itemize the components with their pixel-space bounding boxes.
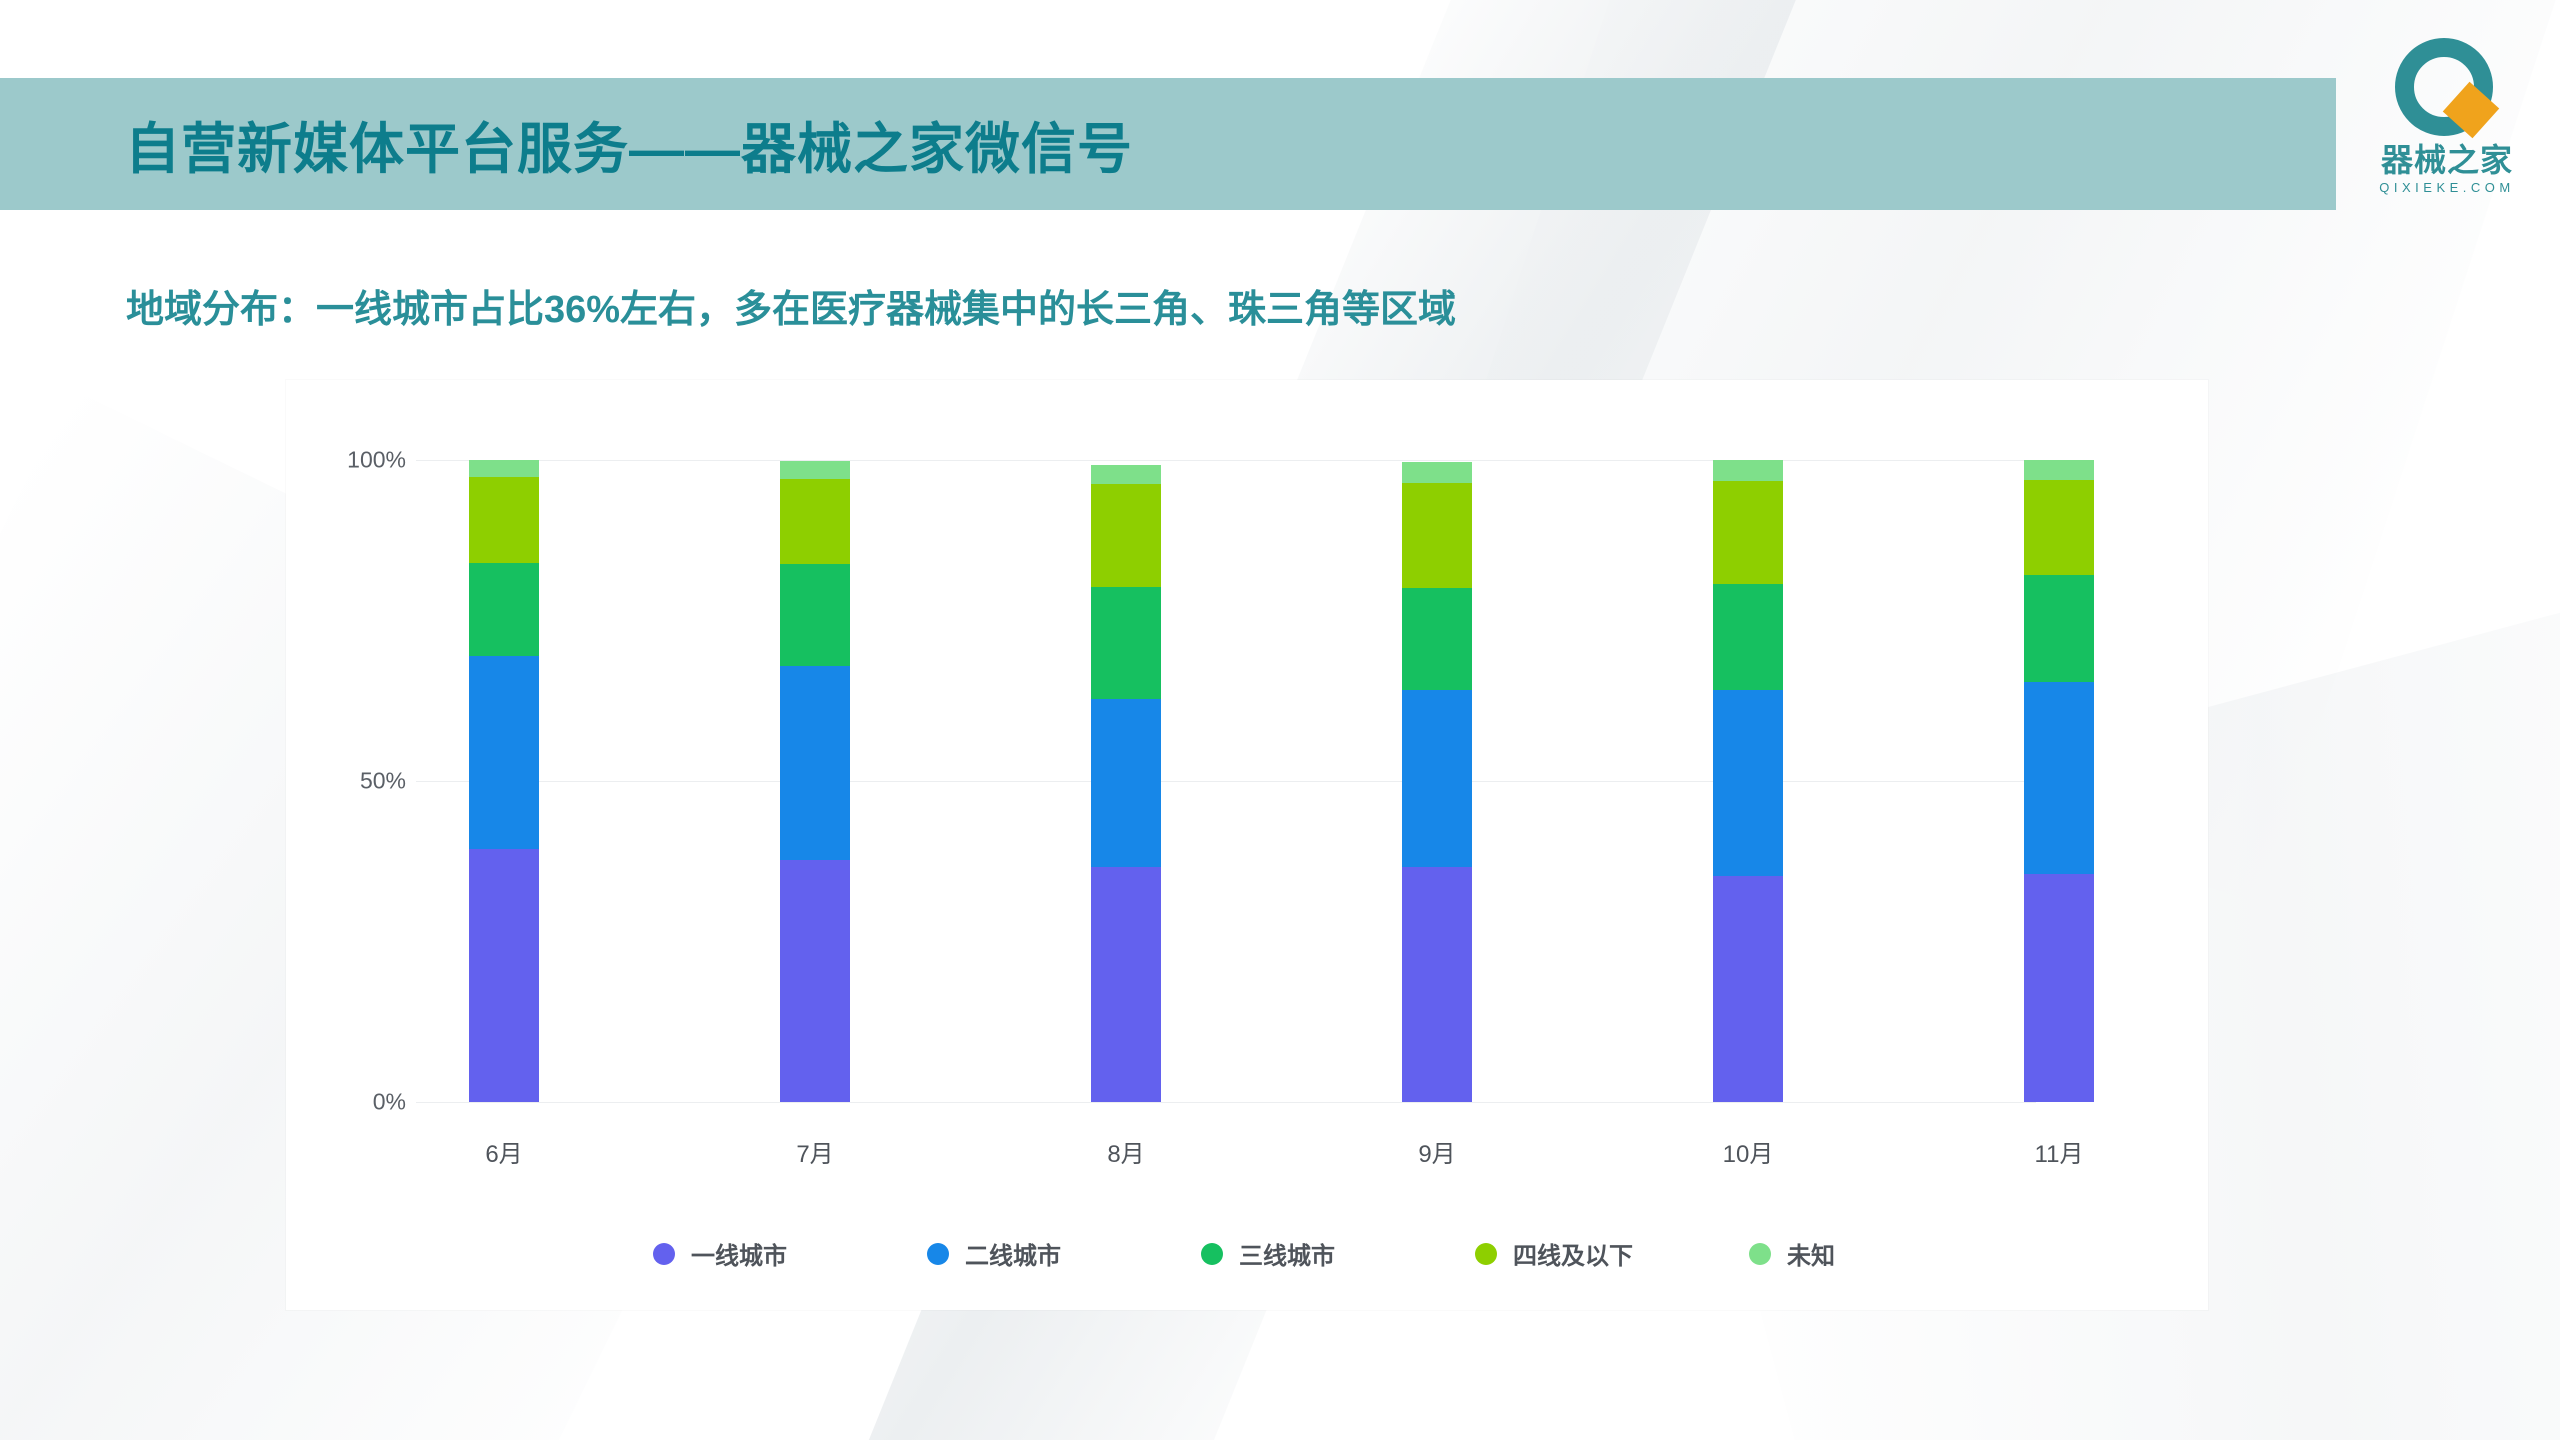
chart-bar-segment[interactable] — [1713, 481, 1783, 584]
brand-logo: 器械之家 QIXIEKE.COM — [2352, 38, 2542, 213]
x-axis-tick-label: 6月 — [424, 1134, 584, 1169]
chart-plot-area: 0%50%100%6月7月8月9月10月11月 — [286, 380, 2208, 1160]
chart-bar-segment[interactable] — [1091, 465, 1161, 485]
logo-name-en: QIXIEKE.COM — [2379, 180, 2514, 195]
legend-color-dot-icon — [653, 1243, 675, 1265]
chart-bar-segment[interactable] — [1402, 867, 1472, 1102]
y-axis-tick-label: 100% — [296, 447, 406, 474]
logo-q-mark-icon — [2393, 38, 2501, 142]
chart-bar-segment[interactable] — [1091, 587, 1161, 699]
chart-bar-segment[interactable] — [1402, 462, 1472, 483]
legend-item[interactable]: 二线城市 — [927, 1236, 1061, 1271]
legend-color-dot-icon — [1475, 1243, 1497, 1265]
chart-bar-segment[interactable] — [1402, 588, 1472, 691]
x-axis-tick-label: 9月 — [1357, 1134, 1517, 1169]
chart-gridline — [416, 781, 2036, 782]
slide-canvas: 自营新媒体平台服务——器械之家微信号 器械之家 QIXIEKE.COM 地域分布… — [0, 0, 2560, 1440]
x-axis-tick-label: 8月 — [1046, 1134, 1206, 1169]
chart-bar-segment[interactable] — [469, 477, 539, 563]
chart-bar[interactable] — [1713, 460, 1783, 1102]
chart-bar-segment[interactable] — [1091, 484, 1161, 587]
chart-bar-segment[interactable] — [2024, 874, 2094, 1102]
x-axis-tick-label: 11月 — [1979, 1134, 2139, 1169]
chart-bar-segment[interactable] — [780, 860, 850, 1102]
chart-bar-segment[interactable] — [1402, 483, 1472, 588]
legend-label: 一线城市 — [691, 1236, 787, 1271]
chart-bar[interactable] — [780, 460, 850, 1102]
chart-bar-segment[interactable] — [1091, 867, 1161, 1102]
chart-legend: 一线城市二线城市三线城市四线及以下未知 — [286, 1228, 2208, 1288]
chart-bar-segment[interactable] — [469, 460, 539, 477]
legend-color-dot-icon — [1201, 1243, 1223, 1265]
logo-name-cn: 器械之家 — [2381, 144, 2513, 178]
chart-bar-segment[interactable] — [2024, 480, 2094, 575]
legend-color-dot-icon — [927, 1243, 949, 1265]
chart-bar-segment[interactable] — [469, 849, 539, 1102]
legend-label: 未知 — [1787, 1236, 1835, 1271]
chart-gridline — [416, 460, 2036, 461]
chart-bar-segment[interactable] — [1713, 690, 1783, 876]
chart-card: 0%50%100%6月7月8月9月10月11月 一线城市二线城市三线城市四线及以… — [286, 380, 2208, 1310]
legend-item[interactable]: 三线城市 — [1201, 1236, 1335, 1271]
y-axis-tick-label: 0% — [296, 1089, 406, 1116]
legend-color-dot-icon — [1749, 1243, 1771, 1265]
chart-bar-segment[interactable] — [2024, 682, 2094, 874]
chart-bar[interactable] — [2024, 460, 2094, 1102]
slide-subtitle: 地域分布：一线城市占比36%左右，多在医疗器械集中的长三角、珠三角等区域 — [126, 278, 1456, 333]
chart-bar-segment[interactable] — [1402, 690, 1472, 867]
legend-item[interactable]: 一线城市 — [653, 1236, 787, 1271]
chart-bar-segment[interactable] — [1091, 699, 1161, 867]
chart-bar-segment[interactable] — [469, 563, 539, 656]
chart-bar-segment[interactable] — [780, 479, 850, 564]
legend-item[interactable]: 四线及以下 — [1475, 1236, 1633, 1271]
y-axis-tick-label: 50% — [296, 768, 406, 795]
legend-label: 二线城市 — [965, 1236, 1061, 1271]
title-band: 自营新媒体平台服务——器械之家微信号 — [0, 78, 2336, 210]
chart-bar-segment[interactable] — [2024, 460, 2094, 480]
chart-gridline — [416, 1102, 2036, 1103]
chart-bar-segment[interactable] — [780, 666, 850, 860]
chart-bar-segment[interactable] — [1713, 460, 1783, 481]
chart-bar-segment[interactable] — [780, 461, 850, 479]
chart-bar-segment[interactable] — [469, 656, 539, 849]
chart-bar[interactable] — [1091, 460, 1161, 1102]
chart-bar-segment[interactable] — [2024, 575, 2094, 682]
legend-item[interactable]: 未知 — [1749, 1236, 1835, 1271]
x-axis-tick-label: 10月 — [1668, 1134, 1828, 1169]
chart-bar-segment[interactable] — [780, 564, 850, 666]
chart-bar[interactable] — [1402, 460, 1472, 1102]
chart-bar-segment[interactable] — [1713, 584, 1783, 690]
chart-bar-segment[interactable] — [1713, 876, 1783, 1102]
x-axis-tick-label: 7月 — [735, 1134, 895, 1169]
legend-label: 四线及以下 — [1513, 1236, 1633, 1271]
chart-bar[interactable] — [469, 460, 539, 1102]
slide-title: 自营新媒体平台服务——器械之家微信号 — [125, 104, 1133, 184]
legend-label: 三线城市 — [1239, 1236, 1335, 1271]
